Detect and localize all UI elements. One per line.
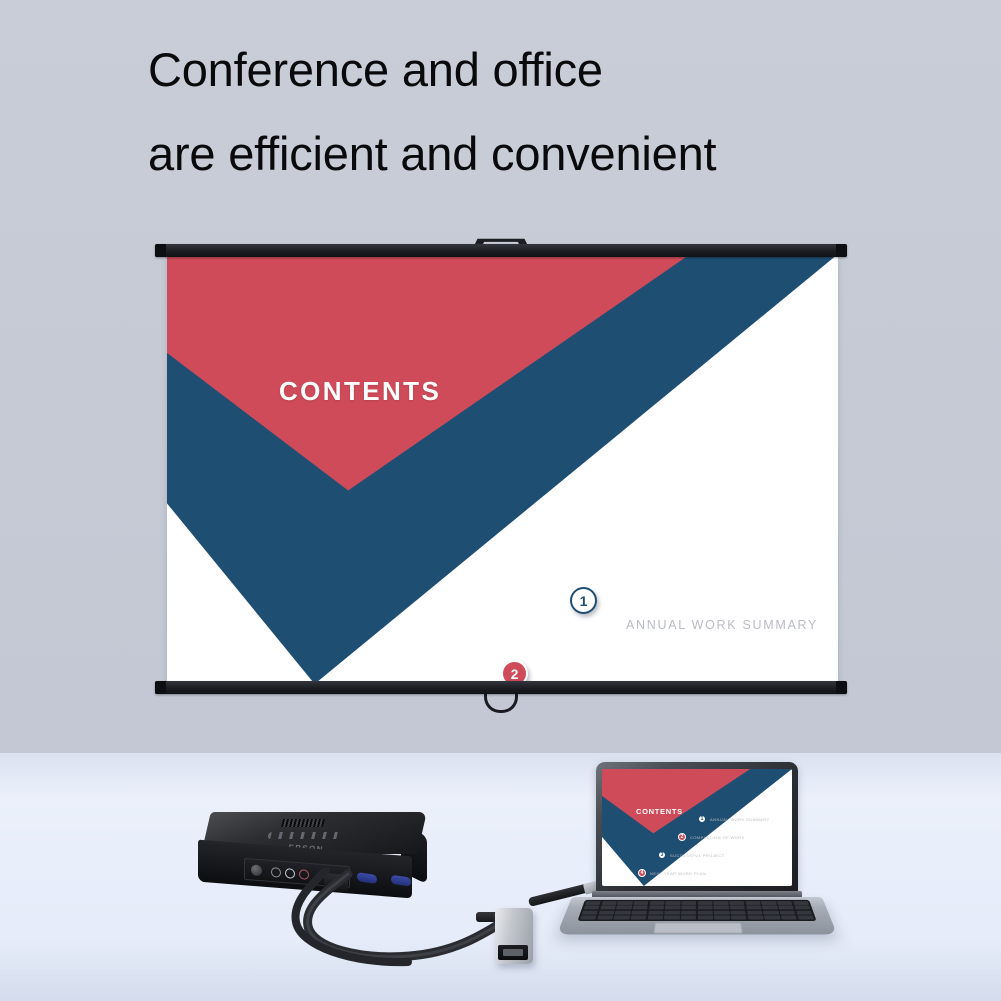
screen-top-bar [155,244,847,257]
laptop-base [557,897,837,934]
projection-screen: CONTENTS 1 ANNUAL WORK SUMMARY 2 COMPLET… [155,232,847,710]
keyboard-row [580,915,814,919]
slide-title: CONTENTS [279,376,441,407]
screen-top-bar-cap-left [155,244,166,257]
projector-rca-port-2-icon [285,868,295,879]
headline-line-1: Conference and office [148,24,948,116]
laptop-toc-item-2: 2 COMPLETION OF WORK [678,833,745,841]
laptop-toc-badge-4: 4 [638,869,646,877]
laptop-device: CONTENTS 1 ANNUAL WORK SUMMARY 2 COMPLET… [566,762,828,962]
laptop-toc-label-3: SUCCESSFUL PROJECT [670,853,725,858]
laptop-trackpad[interactable] [653,923,742,934]
laptop-toc-label-4: NEXT YEAR WORK PLAN [650,871,706,876]
projector-control-buttons [267,832,343,839]
laptop-keyboard[interactable] [577,900,816,921]
slide-toc-item-1: 1 [570,587,597,614]
projected-slide: CONTENTS 1 ANNUAL WORK SUMMARY 2 COMPLET… [167,254,838,684]
laptop-toc-badge-3: 3 [658,851,666,859]
keyboard-row [584,906,811,910]
headline: Conference and office are efficient and … [148,24,948,199]
screen-top-bar-cap-right [836,244,847,257]
laptop-toc-badge-2: 2 [678,833,686,841]
laptop-toc-item-4: 4 NEXT YEAR WORK PLAN [638,869,706,877]
screen-bottom-bar-cap-left [155,681,166,694]
keyboard-row [585,901,808,905]
usbc-hdmi-adapter [495,908,533,964]
laptop-toc-label-1: ANNUAL WORK SUMMARY [710,817,770,822]
laptop-toc-item-1: 1 ANNUAL WORK SUMMARY [698,815,770,823]
projector-vent-icon [281,819,325,827]
laptop-lid: CONTENTS 1 ANNUAL WORK SUMMARY 2 COMPLET… [596,762,798,893]
slide-toc-label-1: ANNUAL WORK SUMMARY [626,618,818,632]
laptop-slide-title: CONTENTS [636,807,683,816]
laptop-toc-badge-1: 1 [698,815,706,823]
laptop-screen: CONTENTS 1 ANNUAL WORK SUMMARY 2 COMPLET… [602,769,792,886]
headline-line-2: are efficient and convenient [148,108,948,200]
screen-bottom-bar [155,681,847,694]
projector-hdmi-plug [324,873,348,893]
adapter-hdmi-port-icon [498,945,528,960]
slide-toc-badge-1: 1 [570,587,597,614]
laptop-toc-item-3: 3 SUCCESSFUL PROJECT [658,851,725,859]
product-marketing-image: Conference and office are efficient and … [0,0,1001,1001]
screen-bottom-bar-cap-right [836,681,847,694]
keyboard-row [582,911,812,915]
projector-rca-port-3-icon [299,869,309,880]
projector-focus-dial-icon [251,864,262,876]
projector-device: EPSON [196,812,428,894]
projector-rca-port-1-icon [271,867,281,878]
laptop-toc-label-2: COMPLETION OF WORK [690,835,745,840]
